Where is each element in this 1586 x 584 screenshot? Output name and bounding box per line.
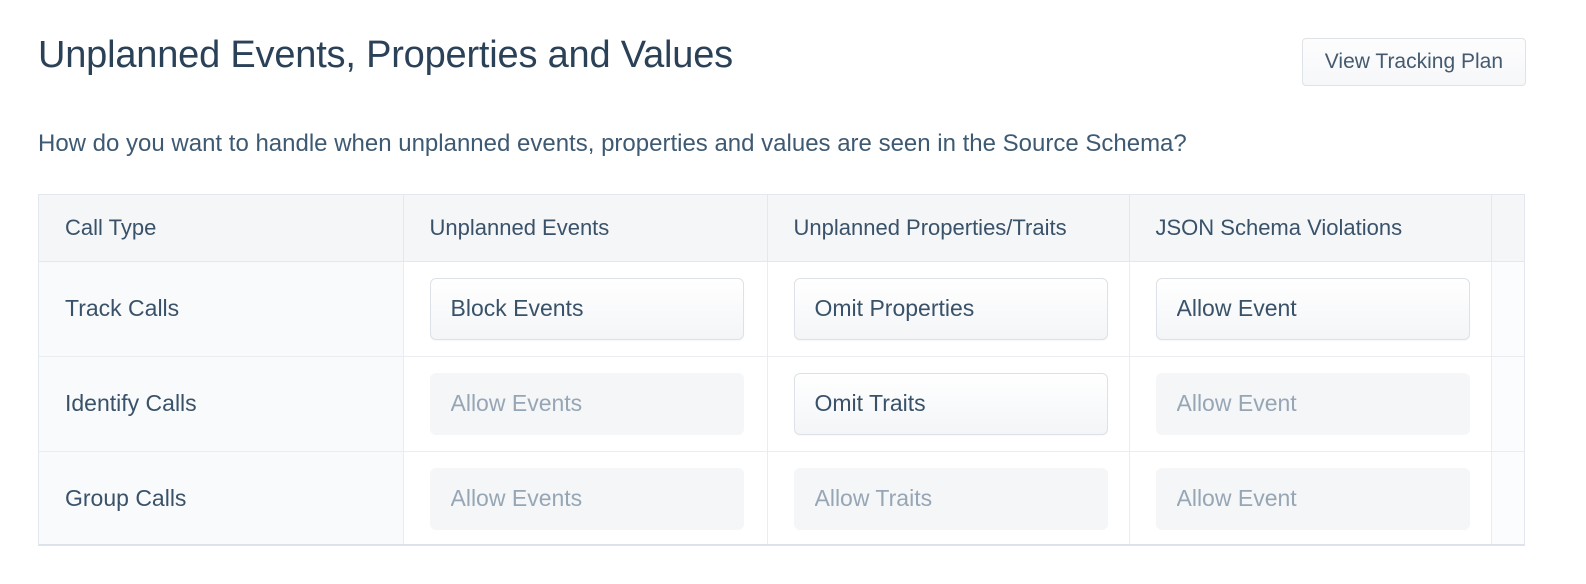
cell-json-violations: Allow Event [1129, 261, 1491, 356]
cell-json-violations: Allow Event [1129, 451, 1491, 546]
unplanned-properties-dropdown-identify[interactable]: Omit Traits [794, 373, 1108, 435]
cell-extra [1491, 261, 1525, 356]
table-row: Identify Calls Allow Events Omit Traits [39, 356, 1525, 451]
dropdown-value: Allow Events [451, 390, 693, 417]
unplanned-events-dropdown-track[interactable]: Block Events [430, 278, 744, 340]
json-violations-dropdown-identify[interactable]: Allow Event [1156, 373, 1470, 435]
json-violations-dropdown-track[interactable]: Allow Event [1156, 278, 1470, 340]
cell-extra [1491, 356, 1525, 451]
cell-unplanned-events: Allow Events [403, 356, 767, 451]
json-violations-dropdown-group[interactable]: Allow Event [1156, 468, 1470, 530]
dropdown-value: Omit Properties [815, 295, 1057, 322]
page-title: Unplanned Events, Properties and Values [38, 32, 733, 78]
table-row: Track Calls Block Events Omit Properties [39, 261, 1525, 356]
cell-unplanned-properties: Allow Traits [767, 451, 1129, 546]
column-header-json-schema-violations: JSON Schema Violations [1129, 195, 1491, 261]
dropdown-value: Allow Event [1177, 485, 1419, 512]
dropdown-value: Allow Event [1177, 295, 1419, 322]
unplanned-events-dropdown-group[interactable]: Allow Events [430, 468, 744, 530]
column-header-unplanned-events: Unplanned Events [403, 195, 767, 261]
column-header-unplanned-properties-traits: Unplanned Properties/Traits [767, 195, 1129, 261]
cell-call-type: Track Calls [39, 261, 403, 356]
cell-json-violations: Allow Event [1129, 356, 1491, 451]
unplanned-events-dropdown-identify[interactable]: Allow Events [430, 373, 744, 435]
cell-unplanned-properties: Omit Properties [767, 261, 1129, 356]
dropdown-value: Allow Event [1177, 390, 1419, 417]
unplanned-properties-dropdown-track[interactable]: Omit Properties [794, 278, 1108, 340]
dropdown-value: Allow Events [451, 485, 693, 512]
cell-extra [1491, 451, 1525, 546]
cell-unplanned-events: Allow Events [403, 451, 767, 546]
table-row: Group Calls Allow Events Allow Traits [39, 451, 1525, 546]
view-tracking-plan-button[interactable]: View Tracking Plan [1302, 38, 1526, 86]
unplanned-properties-dropdown-group[interactable]: Allow Traits [794, 468, 1108, 530]
dropdown-value: Allow Traits [815, 485, 1057, 512]
unplanned-events-settings-page: Unplanned Events, Properties and Values … [0, 0, 1586, 584]
page-description: How do you want to handle when unplanned… [38, 128, 1187, 160]
cell-call-type: Identify Calls [39, 356, 403, 451]
page-header: Unplanned Events, Properties and Values … [38, 32, 1526, 94]
column-header-extra [1491, 195, 1525, 261]
schema-settings-table: Call Type Unplanned Events Unplanned Pro… [39, 195, 1525, 546]
table-header: Call Type Unplanned Events Unplanned Pro… [39, 195, 1525, 261]
table-body: Track Calls Block Events Omit Properties [39, 261, 1525, 546]
table-header-row: Call Type Unplanned Events Unplanned Pro… [39, 195, 1525, 261]
cell-call-type: Group Calls [39, 451, 403, 546]
dropdown-value: Omit Traits [815, 390, 1057, 417]
cell-unplanned-events: Block Events [403, 261, 767, 356]
schema-settings-table-container: Call Type Unplanned Events Unplanned Pro… [38, 194, 1525, 546]
dropdown-value: Block Events [451, 295, 693, 322]
column-header-call-type: Call Type [39, 195, 403, 261]
cell-unplanned-properties: Omit Traits [767, 356, 1129, 451]
